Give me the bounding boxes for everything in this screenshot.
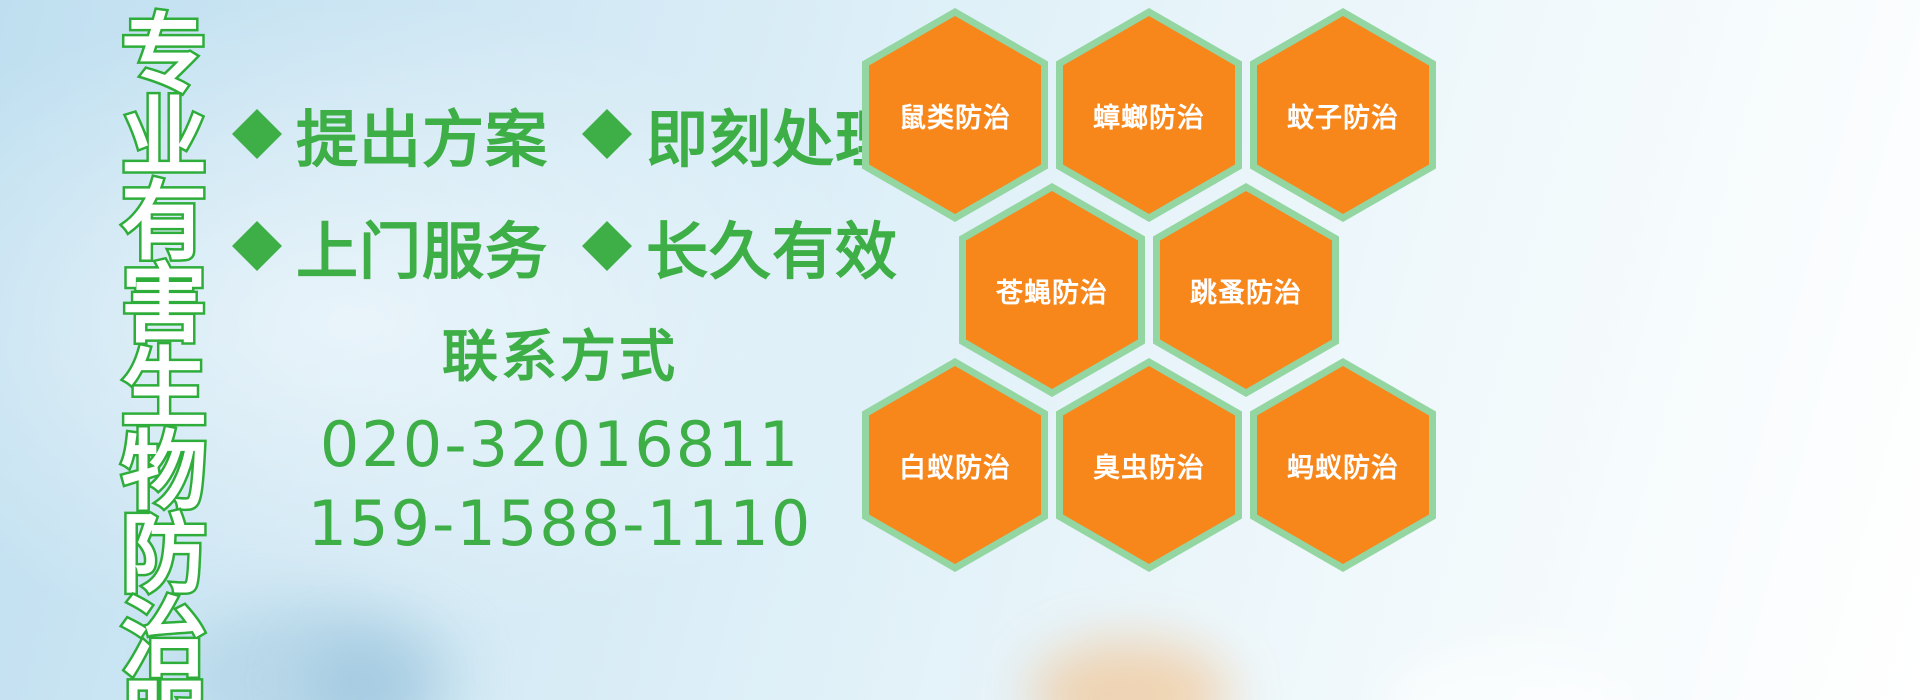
- contact-title: 联系方式: [300, 312, 820, 393]
- pest-control-banner: 专 业 有 害 生 物 防 治 服 务 提出方案 即刻处理 上门服务: [0, 0, 1920, 700]
- contact-phone-landline[interactable]: 020-32016811: [300, 405, 820, 484]
- service-hex-mosquito[interactable]: 蚊子防治: [1250, 8, 1436, 222]
- background-blur-shape: [180, 600, 460, 700]
- service-hex-inner: 蟑螂防治: [1063, 16, 1235, 214]
- vertical-headline: 专 业 有 害 生 物 防 治 服 务: [108, 14, 220, 700]
- service-honeycomb: 鼠类防治 蟑螂防治 蚊子防治 苍蝇防治 跳蚤防治 白蚁防: [862, 0, 1462, 700]
- service-hex-label: 鼠类防治: [899, 96, 1011, 135]
- service-hex-inner: 蚂蚁防治: [1257, 366, 1429, 564]
- service-hex-cockroach[interactable]: 蟑螂防治: [1056, 8, 1242, 222]
- service-hex-inner: 蚊子防治: [1257, 16, 1429, 214]
- vertical-headline-char: 物: [121, 431, 207, 514]
- vertical-headline-char: 服: [121, 681, 207, 700]
- feature-row: 提出方案 即刻处理: [232, 78, 872, 190]
- service-hex-label: 臭虫防治: [1093, 446, 1205, 485]
- contact-phone-mobile[interactable]: 159-1588-1110: [300, 484, 820, 563]
- service-hex-inner: 白蚁防治: [869, 366, 1041, 564]
- service-hex-label: 苍蝇防治: [996, 271, 1108, 310]
- service-hex-label: 跳蚤防治: [1190, 271, 1302, 310]
- contact-block: 联系方式 020-32016811 159-1588-1110: [300, 312, 820, 564]
- service-hex-inner: 臭虫防治: [1063, 366, 1235, 564]
- vertical-headline-char: 生: [121, 348, 207, 431]
- diamond-icon: [232, 84, 282, 134]
- service-hex-bedbug[interactable]: 臭虫防治: [1056, 358, 1242, 572]
- feature-label: 长久有效: [646, 201, 898, 291]
- service-hex-label: 蚊子防治: [1287, 96, 1399, 135]
- feature-row: 上门服务 长久有效: [232, 190, 872, 302]
- feature-label: 提出方案: [296, 89, 548, 179]
- background-blur-shape: [300, 640, 420, 700]
- diamond-icon: [582, 196, 632, 246]
- diamond-icon: [582, 84, 632, 134]
- feature-list: 提出方案 即刻处理 上门服务 长久有效: [232, 78, 872, 302]
- service-hex-rodent[interactable]: 鼠类防治: [862, 8, 1048, 222]
- service-hex-label: 蟑螂防治: [1093, 96, 1205, 135]
- service-hex-inner: 跳蚤防治: [1160, 191, 1332, 389]
- feature-item-onsite: 上门服务: [232, 201, 548, 291]
- feature-item-longlasting: 长久有效: [582, 201, 898, 291]
- vertical-headline-char: 防: [121, 514, 207, 597]
- vertical-headline-char: 业: [121, 97, 207, 180]
- service-hex-ant[interactable]: 蚂蚁防治: [1250, 358, 1436, 572]
- service-hex-inner: 苍蝇防治: [966, 191, 1138, 389]
- service-hex-fly[interactable]: 苍蝇防治: [959, 183, 1145, 397]
- service-hex-flea[interactable]: 跳蚤防治: [1153, 183, 1339, 397]
- vertical-headline-char: 专: [121, 14, 207, 97]
- feature-label: 上门服务: [296, 201, 548, 291]
- service-hex-termite[interactable]: 白蚁防治: [862, 358, 1048, 572]
- vertical-headline-char: 害: [121, 264, 207, 347]
- feature-item-immediate: 即刻处理: [582, 89, 898, 179]
- vertical-headline-char: 治: [121, 598, 207, 681]
- service-hex-label: 蚂蚁防治: [1287, 446, 1399, 485]
- service-hex-inner: 鼠类防治: [869, 16, 1041, 214]
- diamond-icon: [232, 196, 282, 246]
- vertical-headline-char: 有: [121, 181, 207, 264]
- feature-label: 即刻处理: [646, 89, 898, 179]
- service-hex-label: 白蚁防治: [899, 446, 1011, 485]
- feature-item-proposal: 提出方案: [232, 89, 548, 179]
